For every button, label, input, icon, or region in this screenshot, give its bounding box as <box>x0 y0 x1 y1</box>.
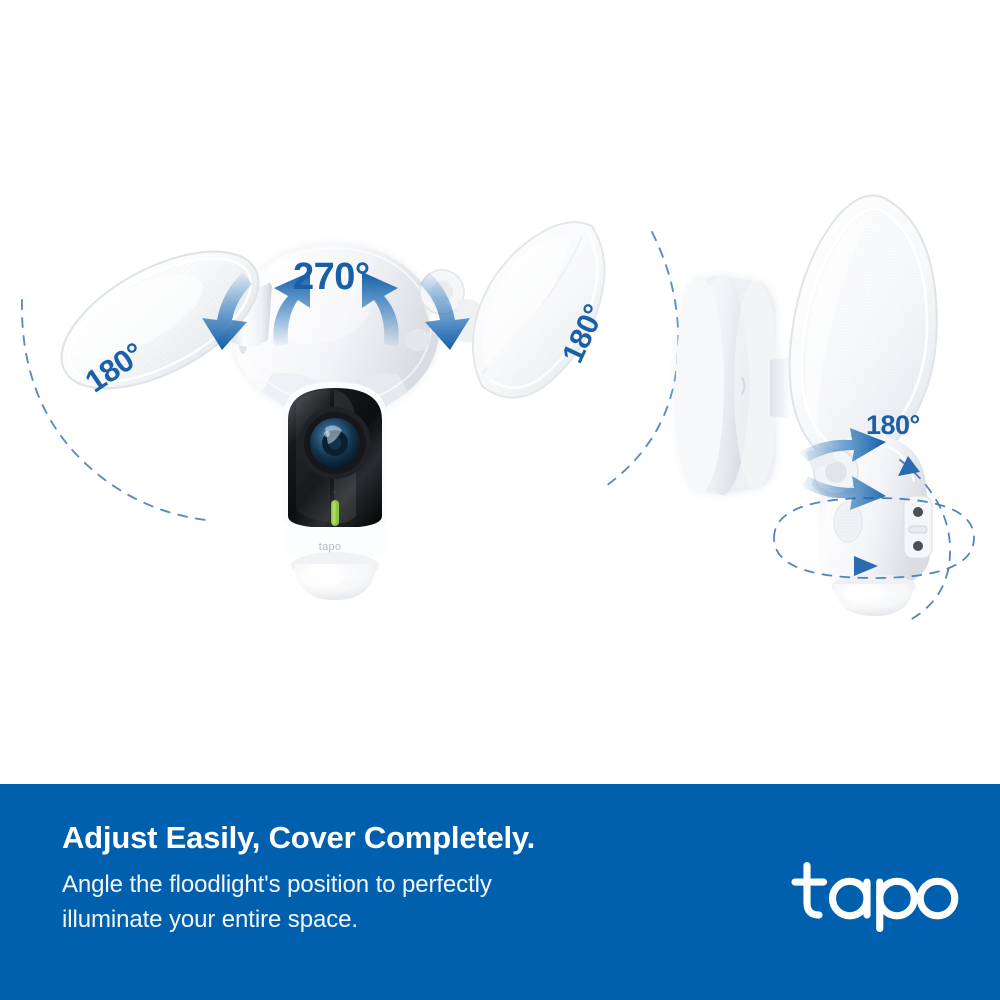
camera-silk-brand: tapo <box>300 538 360 554</box>
port-usb <box>909 526 927 533</box>
banner-headline: Adjust Easily, Cover Completely. <box>62 820 535 856</box>
mount-side-button <box>405 329 431 351</box>
wall-mount-plate <box>676 275 778 495</box>
product-diagram-svg <box>0 0 1000 784</box>
device-right-side-view <box>676 196 974 621</box>
sensor-dot-top <box>333 490 337 494</box>
angle-label-180-far-right: 180° <box>866 412 920 439</box>
angle-label-270: 270° <box>293 258 370 296</box>
speaker-grille <box>834 502 862 542</box>
left-device-camera-module <box>283 382 387 600</box>
banner-subtitle-line-2: illuminate your entire space. <box>62 903 492 938</box>
io-port-panel <box>904 496 932 558</box>
banner-subtitle: Angle the floodlight's position to perfe… <box>62 868 492 938</box>
banner-subtitle-line-1: Angle the floodlight's position to perfe… <box>62 868 492 903</box>
right-device-camera-body <box>806 436 932 616</box>
tapo-brand-logo <box>786 856 960 932</box>
svg-text:tapo: tapo <box>319 541 341 553</box>
port-reset-button <box>913 507 923 517</box>
port-microphone <box>913 541 923 551</box>
product-illustration-area: 270° 180° 180° 180° tapo <box>0 0 1000 784</box>
dashed-arc-right-180 <box>606 232 678 486</box>
product-marketing-image: 270° 180° 180° 180° tapo Adjust Easily, … <box>0 0 1000 1000</box>
